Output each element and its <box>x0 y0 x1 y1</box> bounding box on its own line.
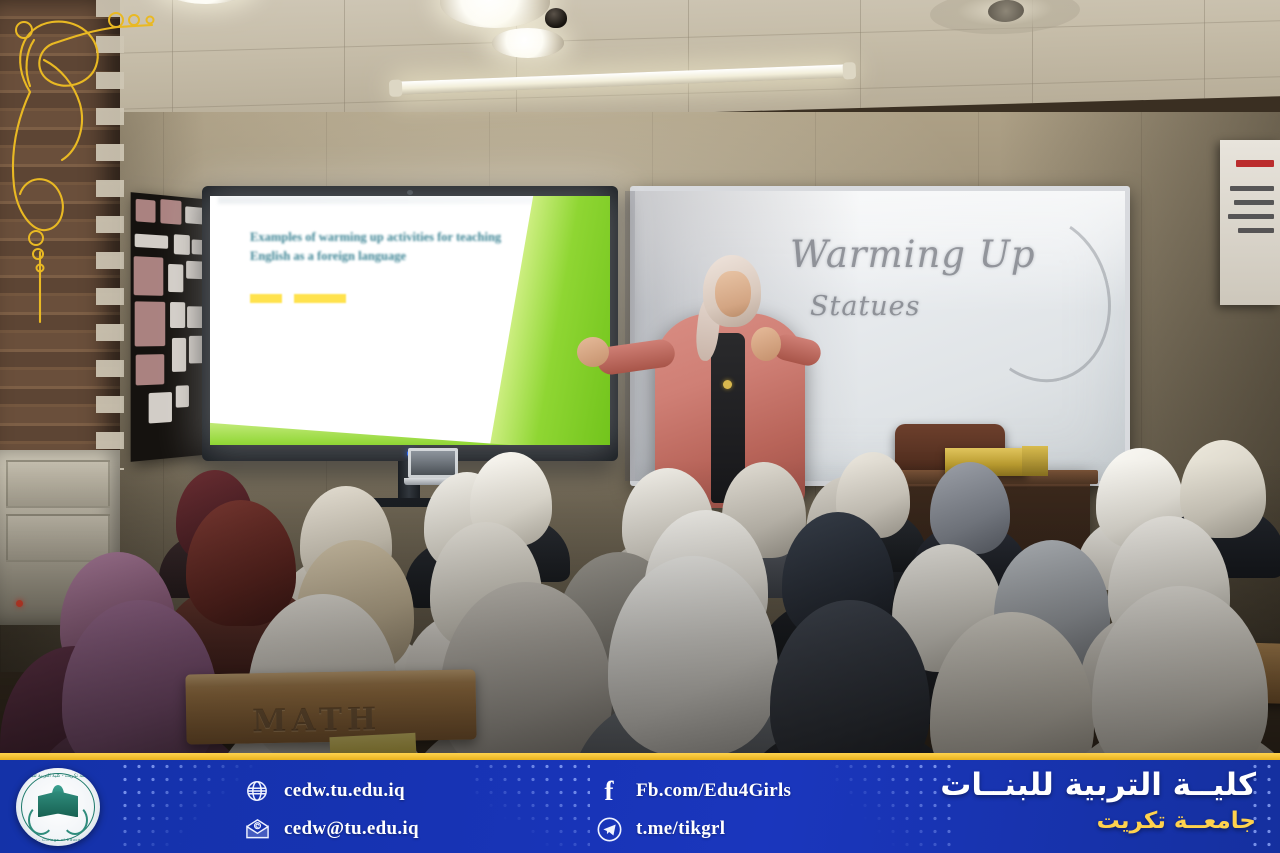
telegram-icon <box>596 816 622 842</box>
college-seal-logo: جامعة تكريت - كلية التربية للبنات Tikrit… <box>16 768 100 846</box>
classroom-photograph: Warming Up Statues Examples of warming u… <box>0 0 1280 759</box>
student-bench: MATH <box>185 669 476 744</box>
contact-row-email[interactable]: cedw@tu.edu.iq <box>244 810 419 848</box>
contact-row-facebook[interactable]: f Fb.com/Edu4Girls <box>596 772 791 810</box>
student-figure <box>1092 586 1268 759</box>
facebook-icon: f <box>596 778 622 804</box>
student-figure <box>930 612 1094 759</box>
logo-arabic-ring-text: جامعة تكريت - كلية التربية للبنات <box>24 773 92 779</box>
gold-divider-bar <box>0 753 1280 760</box>
logo-english-ring-text: Tikrit University - College of Education… <box>16 837 100 842</box>
contact-row-website[interactable]: cedw.tu.edu.iq <box>244 772 419 810</box>
website-url-text: cedw.tu.edu.iq <box>284 780 405 802</box>
student-figure <box>608 556 778 756</box>
logo-book-icon <box>38 791 78 817</box>
contact-column-web: cedw.tu.edu.iq cedw@tu.edu.iq <box>244 772 419 848</box>
contact-row-telegram[interactable]: t.me/tikgrl <box>596 810 791 848</box>
globe-icon <box>244 778 270 804</box>
dot-pattern-decoration <box>470 760 590 853</box>
student-figure <box>770 600 930 759</box>
contact-column-social: f Fb.com/Edu4Girls t.me/tikgrl <box>596 772 791 848</box>
audience-group <box>0 0 1280 759</box>
event-poster: Warming Up Statues Examples of warming u… <box>0 0 1280 853</box>
email-address-text: cedw@tu.edu.iq <box>284 818 419 840</box>
university-name-arabic: جامعــة تكريت <box>906 807 1256 837</box>
telegram-url-text: t.me/tikgrl <box>636 818 725 840</box>
bench-engraving-text: MATH <box>252 701 382 739</box>
college-brand-block: كليــة التربية للبنــات جامعــة تكريت <box>906 766 1256 837</box>
dot-pattern-decoration <box>118 760 264 853</box>
college-name-arabic: كليــة التربية للبنــات <box>906 766 1256 805</box>
facebook-url-text: Fb.com/Edu4Girls <box>636 780 791 802</box>
envelope-icon <box>244 816 270 842</box>
